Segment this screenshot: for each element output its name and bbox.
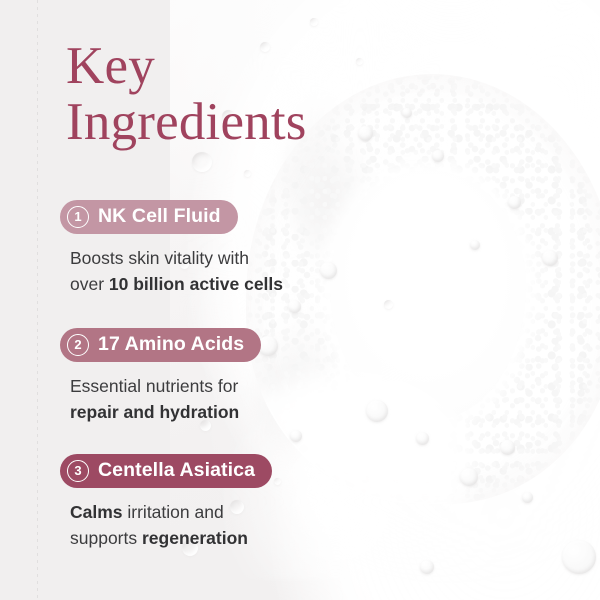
- page-title: Key Ingredients: [66, 38, 366, 150]
- foam-bubble: [402, 108, 412, 118]
- description-emphasis: 10 billion active cells: [109, 274, 283, 294]
- description-line: over 10 billion active cells: [70, 272, 360, 298]
- foam-bubble: [500, 440, 515, 455]
- milk-droplet: [384, 300, 393, 309]
- foam-bubble: [562, 540, 596, 574]
- foam-bubble: [420, 560, 434, 574]
- ingredient-description-1: Boosts skin vitality with over 10 billio…: [70, 246, 360, 298]
- foam-bubble: [508, 196, 521, 209]
- foam-bubble: [460, 468, 478, 486]
- description-plain: supports: [70, 528, 142, 548]
- description-line: supports regeneration: [70, 526, 360, 552]
- ingredient-number-3: 3: [67, 460, 89, 482]
- description-line: Calms irritation and: [70, 500, 360, 526]
- foam-bubble: [522, 492, 533, 503]
- ingredient-description-3: Calms irritation and supports regenerati…: [70, 500, 360, 552]
- ingredient-badge-2[interactable]: 2 17 Amino Acids: [60, 328, 261, 362]
- description-emphasis: Calms: [70, 502, 123, 522]
- title-line-1: Key: [66, 38, 366, 94]
- ingredient-item-1: 1 NK Cell Fluid Boosts skin vitality wit…: [60, 200, 360, 298]
- ingredient-item-2: 2 17 Amino Acids Essential nutrients for…: [60, 328, 360, 426]
- key-ingredients-graphic: Key Ingredients 1 NK Cell Fluid Boosts s…: [0, 0, 600, 600]
- ingredient-badge-1[interactable]: 1 NK Cell Fluid: [60, 200, 238, 234]
- ingredient-name-2: 17 Amino Acids: [98, 333, 244, 356]
- title-line-2: Ingredients: [66, 94, 366, 150]
- foam-bubble: [542, 250, 558, 266]
- description-emphasis: repair and hydration: [70, 402, 239, 422]
- ingredient-name-1: NK Cell Fluid: [98, 205, 221, 228]
- foam-bubble: [366, 400, 388, 422]
- description-emphasis: regeneration: [142, 528, 248, 548]
- ingredient-number-1: 1: [67, 206, 89, 228]
- description-line: Boosts skin vitality with: [70, 246, 360, 272]
- foam-bubble: [416, 432, 429, 445]
- foam-bubble: [432, 150, 444, 162]
- ingredient-badge-3[interactable]: 3 Centella Asiatica: [60, 454, 272, 488]
- description-line: repair and hydration: [70, 400, 360, 426]
- description-plain: over: [70, 274, 109, 294]
- ingredient-description-2: Essential nutrients for repair and hydra…: [70, 374, 360, 426]
- foam-bubble: [470, 240, 480, 250]
- ingredient-item-3: 3 Centella Asiatica Calms irritation and…: [60, 454, 360, 552]
- description-line: Essential nutrients for: [70, 374, 360, 400]
- ingredient-name-3: Centella Asiatica: [98, 459, 255, 482]
- content-column: Key Ingredients 1 NK Cell Fluid Boosts s…: [0, 0, 360, 600]
- description-plain: irritation and: [123, 502, 224, 522]
- ingredient-number-2: 2: [67, 334, 89, 356]
